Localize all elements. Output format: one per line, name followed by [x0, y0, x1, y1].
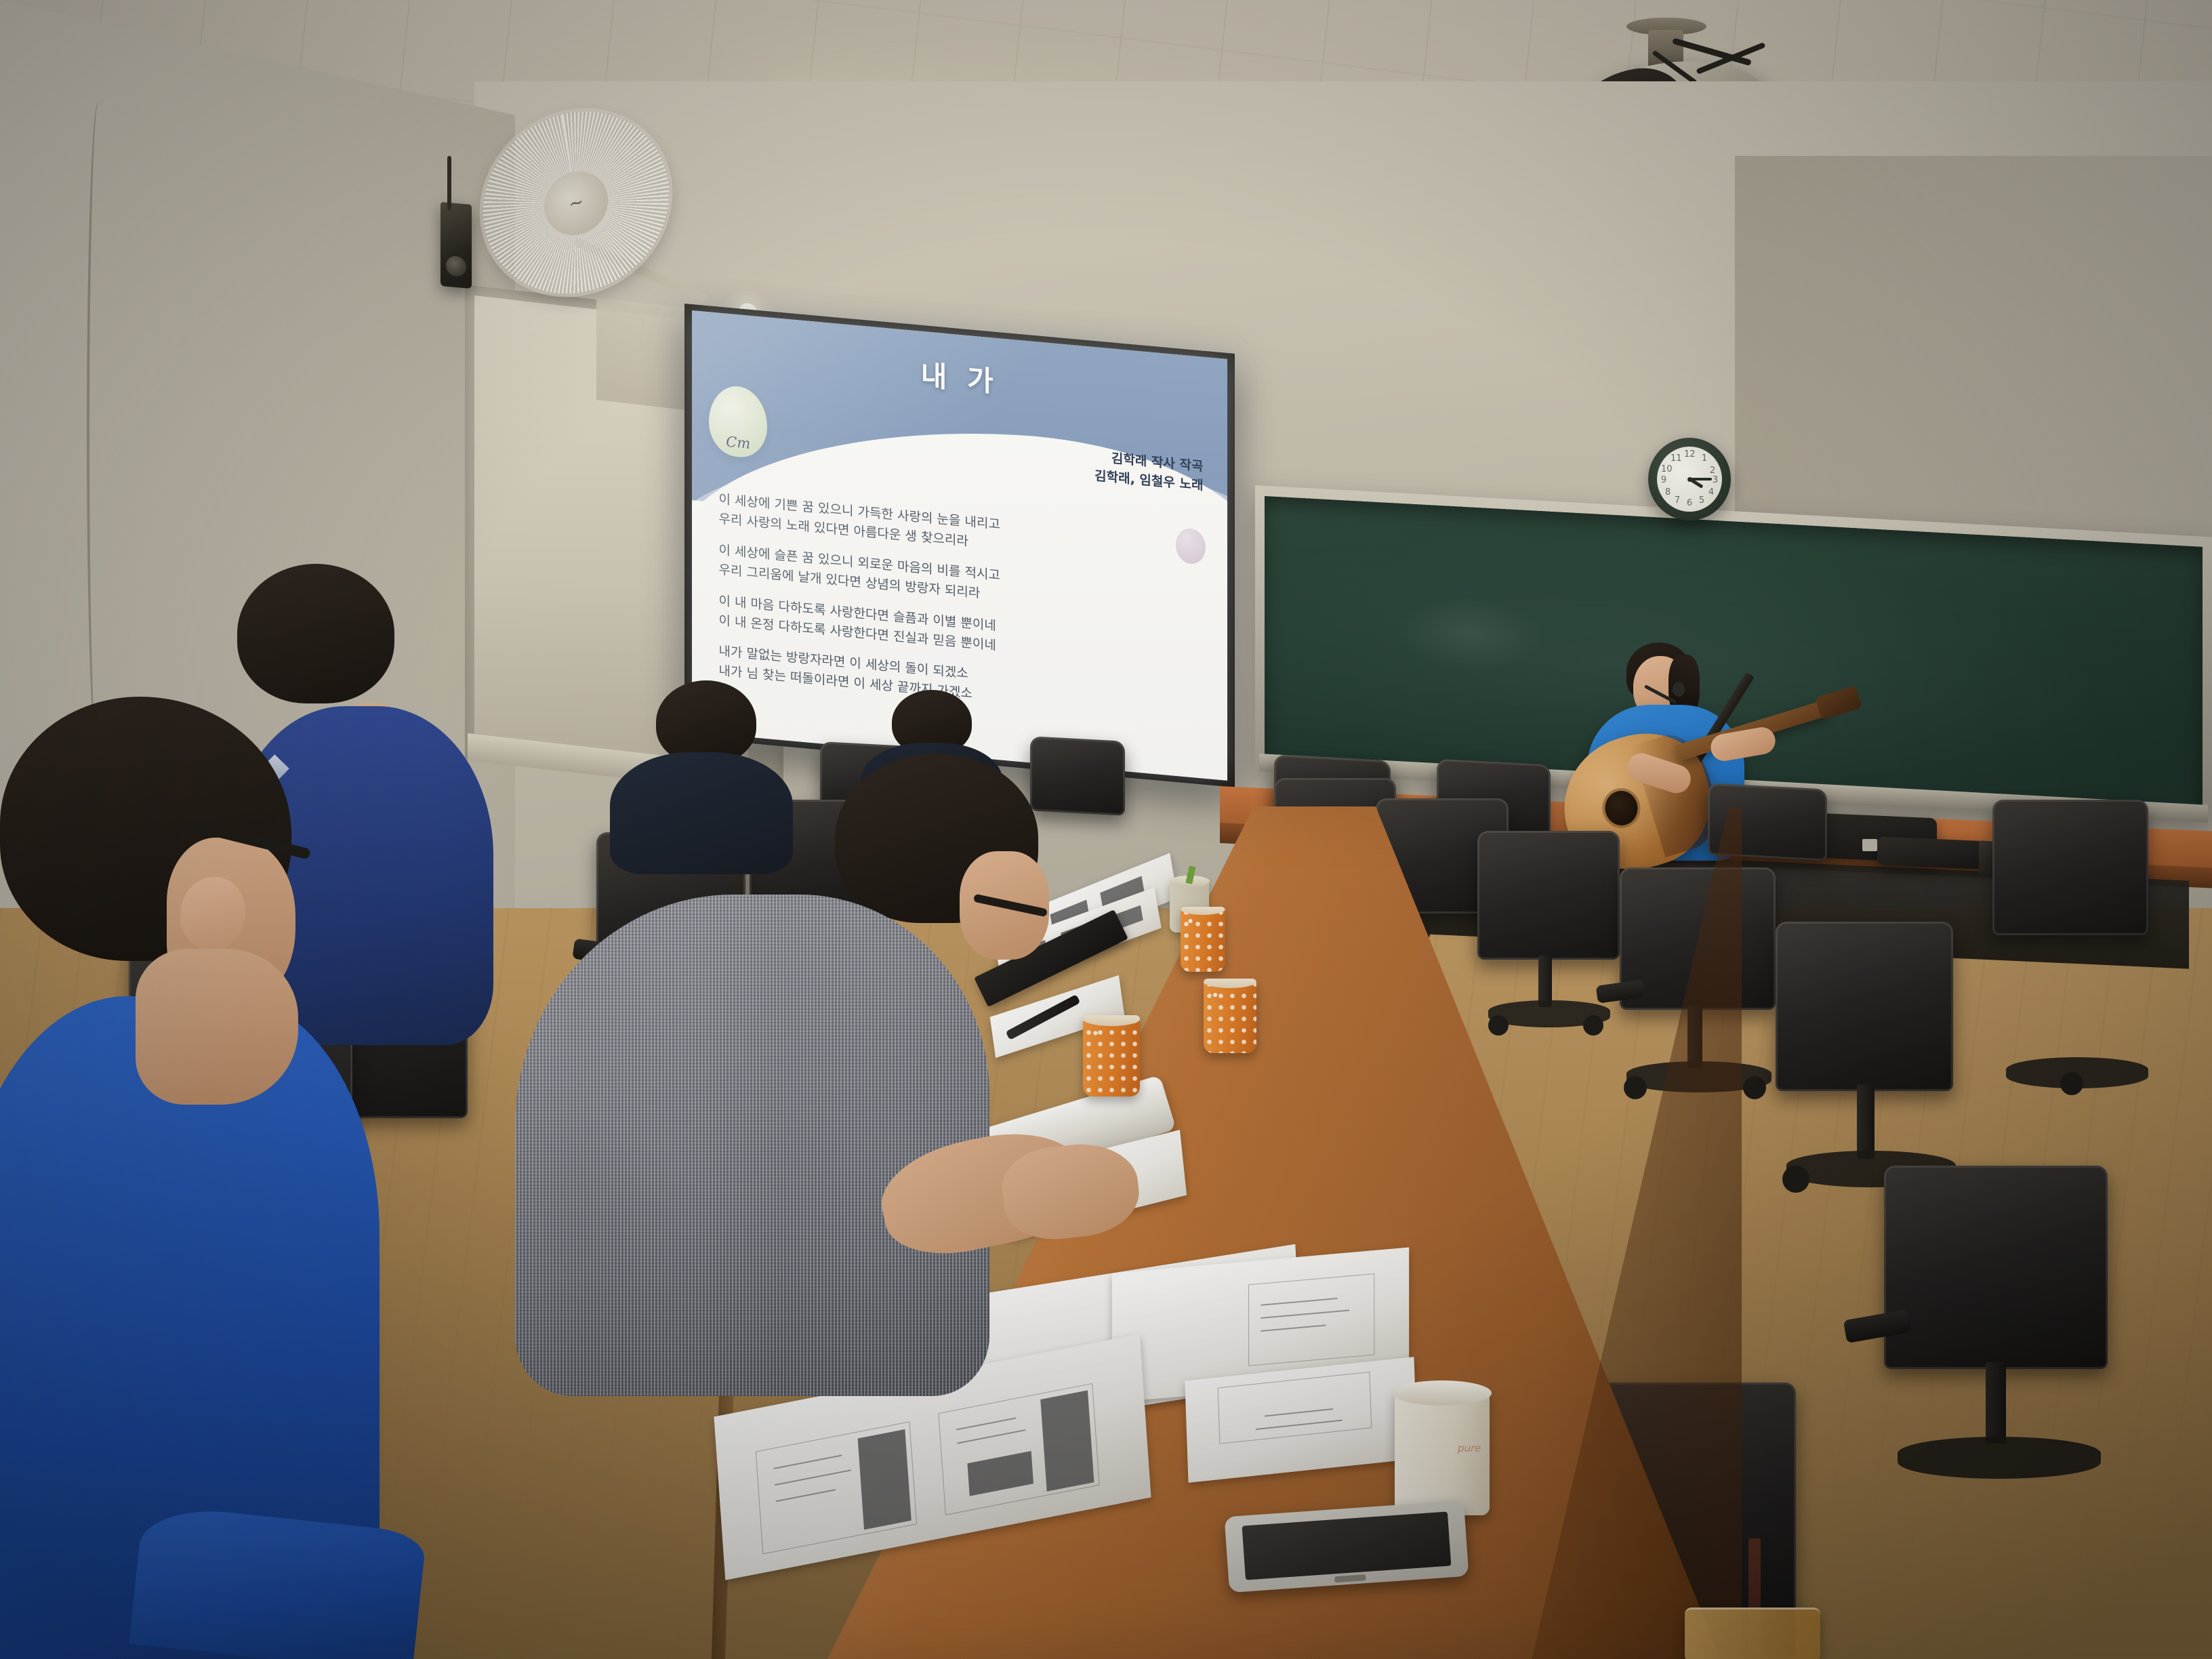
- chair-left-far-1[interactable]: [1030, 736, 1125, 815]
- white-paper-cup[interactable]: pure: [1395, 1389, 1490, 1515]
- clock-num: 6: [1684, 498, 1695, 508]
- chair-right-7[interactable]: [1884, 1166, 2108, 1369]
- wall-speaker: [441, 202, 472, 289]
- headset-mic-earpiece: [1673, 682, 1685, 697]
- fan-hub: ~: [539, 165, 613, 242]
- clock-num: 4: [1706, 487, 1717, 497]
- speaker-cone-icon: [446, 255, 466, 278]
- chair-base-r7: [1898, 1437, 2101, 1479]
- orange-paper-cup-2[interactable]: [1204, 979, 1256, 1053]
- audience-ear-1: [180, 877, 245, 950]
- audience-head-2: [237, 564, 394, 703]
- clock-num: 10: [1661, 464, 1672, 474]
- clock-minute-hand: [1690, 478, 1712, 480]
- chair-right-6[interactable]: [1992, 800, 2148, 935]
- guitar-sound-hole: [1604, 790, 1639, 827]
- caster-r3-a: [1488, 1015, 1509, 1036]
- caster-r6: [2060, 1072, 2083, 1095]
- caster-r5-a: [1782, 1166, 1809, 1193]
- clock-num: 5: [1696, 495, 1707, 506]
- caster-r4-a: [1624, 1076, 1647, 1099]
- chair-post-r7: [1986, 1362, 2006, 1443]
- fan-hub-logo: ~: [567, 191, 585, 215]
- bag-buckle: [1862, 839, 1877, 851]
- clock-num: 11: [1671, 453, 1681, 464]
- orange-paper-cup-1[interactable]: [1181, 907, 1225, 972]
- equipment-bag-2: [1877, 836, 1992, 869]
- chair-right-5[interactable]: [1776, 922, 1953, 1091]
- clock-num: 2: [1707, 466, 1718, 476]
- audience-neck-1: [136, 949, 298, 1105]
- classroom-scene: ~ Cm 내 가 김학래 작사 작곡 김학래, 임철우 노래: [0, 0, 2212, 1659]
- chair-post-r5: [1857, 1084, 1875, 1159]
- phone-home-button[interactable]: [1334, 1574, 1366, 1582]
- cup-logo: pure: [1458, 1442, 1481, 1454]
- clock-center-pin: [1687, 477, 1692, 482]
- wall-cable: [87, 102, 110, 766]
- phone-screen[interactable]: [1242, 1511, 1451, 1580]
- orange-paper-cup-3[interactable]: [1083, 1015, 1140, 1097]
- chair-post-r3: [1538, 956, 1552, 1007]
- clock-num: 3: [1710, 475, 1721, 485]
- speaker-cable: [447, 156, 451, 210]
- clock-num: 1: [1699, 453, 1710, 464]
- clock-num: 12: [1684, 449, 1695, 459]
- audience-torso-4: [515, 895, 989, 1396]
- wall-clock: 12 1 2 3 4 5 6 7 8 9 10 11: [1648, 438, 1731, 520]
- chair-right-3[interactable]: [1477, 831, 1620, 960]
- clock-num: 7: [1672, 495, 1683, 506]
- chalkboard-smudge: [1396, 592, 1545, 675]
- caster-r4-b: [1743, 1076, 1766, 1099]
- clock-num: 8: [1662, 487, 1673, 497]
- iced-drink-cup[interactable]: [1685, 1607, 1820, 1659]
- caster-r3-b: [1583, 1015, 1603, 1036]
- audience-torso-3: [610, 752, 793, 874]
- clock-face: 12 1 2 3 4 5 6 7 8 9 10 11: [1657, 447, 1722, 512]
- clock-num: 9: [1658, 475, 1669, 485]
